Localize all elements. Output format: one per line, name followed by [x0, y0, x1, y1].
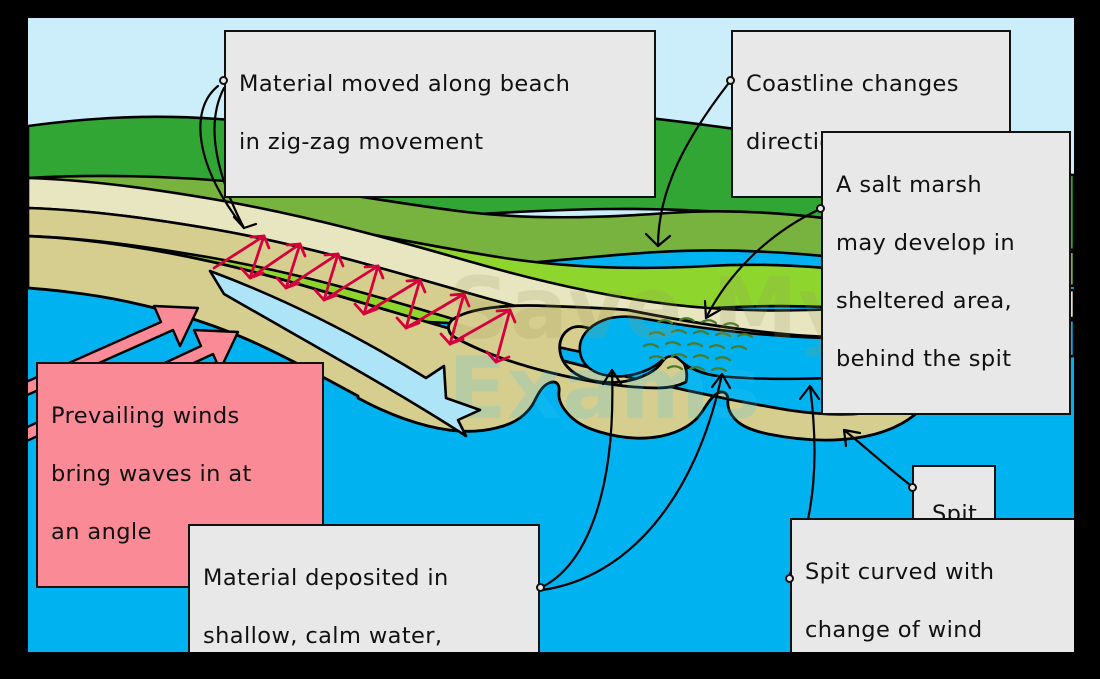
callout-anchor-dot — [785, 574, 794, 583]
callout-line: change of wind — [805, 616, 1063, 645]
callout-line: Coastline changes — [746, 70, 996, 99]
callout-anchor-dot — [816, 204, 825, 213]
callout-line: Material deposited in — [203, 564, 525, 593]
callout-anchor-dot — [536, 583, 545, 592]
callout-line: in zig-zag movement — [239, 128, 641, 157]
callout-material-deposited[interactable]: Material deposited in shallow, calm wate… — [188, 524, 540, 652]
callout-line: sheltered area, — [836, 287, 1056, 316]
callout-line: Material moved along beach — [239, 70, 641, 99]
callout-spit-curved[interactable]: Spit curved with change of wind directio… — [790, 518, 1074, 652]
callout-line: Spit curved with — [805, 558, 1063, 587]
callout-salt-marsh[interactable]: A salt marsh may develop in sheltered ar… — [821, 131, 1071, 415]
callout-line: Prevailing winds — [51, 402, 309, 431]
callout-anchor-dot — [726, 76, 735, 85]
callout-line: A salt marsh — [836, 171, 1056, 200]
callout-line: may develop in — [836, 229, 1056, 258]
callout-anchor-dot — [219, 76, 228, 85]
callout-longshore-drift[interactable]: Material moved along beach in zig-zag mo… — [224, 30, 656, 198]
callout-line: shallow, calm water, — [203, 622, 525, 651]
diagram-canvas: Save My Exams — [28, 18, 1074, 652]
callout-line: behind the spit — [836, 345, 1056, 374]
diagram-frame: Save My Exams — [0, 0, 1100, 679]
callout-line: bring waves in at — [51, 460, 309, 489]
callout-anchor-dot — [908, 483, 917, 492]
svg-text:Exams: Exams — [448, 339, 761, 439]
